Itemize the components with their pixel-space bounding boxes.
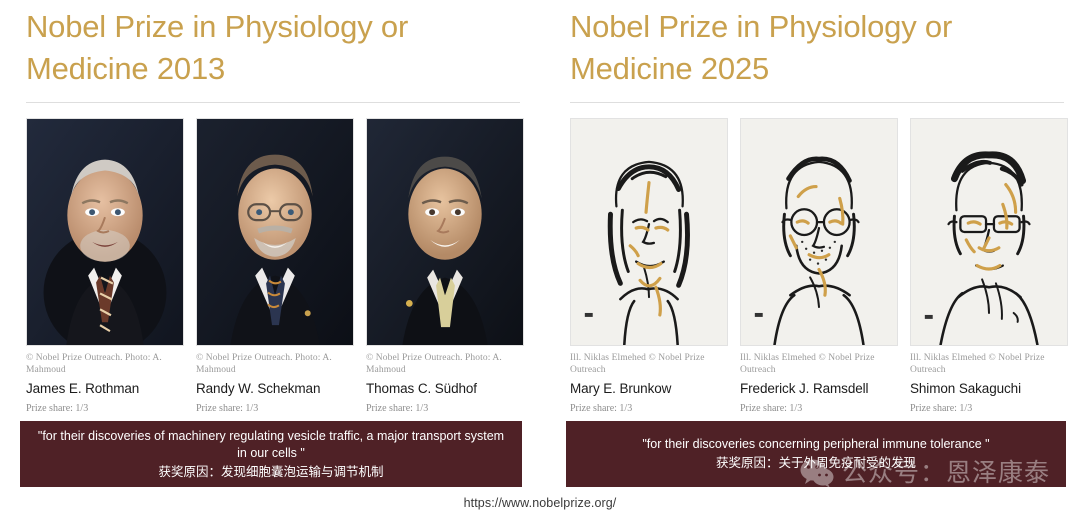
motivation-text-zh: 获奖原因：关于外周免疫耐受的发现 (716, 454, 916, 472)
laureate-card[interactable]: © Nobel Prize Outreach. Photo: A. Mahmou… (196, 118, 354, 415)
laureate-prize-share: Prize share: 1/3 (196, 403, 354, 415)
laureate-credit: Ill. Niklas Elmehed © Nobel Prize Outrea… (570, 353, 728, 376)
title-divider (570, 102, 1064, 103)
laureate-card[interactable]: Ill. Niklas Elmehed © Nobel Prize Outrea… (910, 118, 1068, 415)
slide-canvas: Nobel Prize in Physiology or Medicine 20… (0, 0, 1080, 524)
laureate-credit: © Nobel Prize Outreach. Photo: A. Mahmou… (366, 353, 524, 376)
laureate-credit: Ill. Niklas Elmehed © Nobel Prize Outrea… (740, 353, 898, 376)
laureate-list-2013: © Nobel Prize Outreach. Photo: A. Mahmou… (26, 118, 526, 415)
motivation-text-en: "for their discoveries of machinery regu… (32, 428, 510, 462)
page-title-2013: Nobel Prize in Physiology or Medicine 20… (26, 6, 496, 90)
laureate-portrait-photo (26, 118, 184, 346)
motivation-box-2025: "for their discoveries concerning periph… (566, 421, 1066, 487)
laureate-name: Thomas C. Südhof (366, 380, 524, 397)
nobel-panel-2013: Nobel Prize in Physiology or Medicine 20… (0, 0, 540, 524)
laureate-portrait-illustration (740, 118, 898, 346)
laureate-portrait-illustration (910, 118, 1068, 346)
source-url[interactable]: https://www.nobelprize.org/ (0, 496, 1080, 510)
laureate-name: Shimon Sakaguchi (910, 380, 1068, 397)
laureate-portrait-photo (366, 118, 524, 346)
laureate-credit: Ill. Niklas Elmehed © Nobel Prize Outrea… (910, 353, 1068, 376)
page-title-2025: Nobel Prize in Physiology or Medicine 20… (570, 6, 1050, 90)
laureate-prize-share: Prize share: 1/3 (26, 403, 184, 415)
laureate-list-2025: Ill. Niklas Elmehed © Nobel Prize Outrea… (570, 118, 1070, 415)
laureate-credit: © Nobel Prize Outreach. Photo: A. Mahmou… (26, 353, 184, 376)
laureate-name: Randy W. Schekman (196, 380, 354, 397)
laureate-card[interactable]: © Nobel Prize Outreach. Photo: A. Mahmou… (366, 118, 524, 415)
nobel-panel-2025: Nobel Prize in Physiology or Medicine 20… (540, 0, 1080, 524)
motivation-box-2013: "for their discoveries of machinery regu… (20, 421, 522, 487)
title-divider (26, 102, 520, 103)
laureate-prize-share: Prize share: 1/3 (910, 403, 1068, 415)
laureate-prize-share: Prize share: 1/3 (366, 403, 524, 415)
laureate-card[interactable]: Ill. Niklas Elmehed © Nobel Prize Outrea… (740, 118, 898, 415)
laureate-card[interactable]: Ill. Niklas Elmehed © Nobel Prize Outrea… (570, 118, 728, 415)
laureate-prize-share: Prize share: 1/3 (570, 403, 728, 415)
laureate-credit: © Nobel Prize Outreach. Photo: A. Mahmou… (196, 353, 354, 376)
laureate-name: Frederick J. Ramsdell (740, 380, 898, 397)
laureate-card[interactable]: © Nobel Prize Outreach. Photo: A. Mahmou… (26, 118, 184, 415)
laureate-name: James E. Rothman (26, 380, 184, 397)
motivation-text-en: "for their discoveries concerning periph… (642, 436, 989, 453)
laureate-portrait-photo (196, 118, 354, 346)
laureate-portrait-illustration (570, 118, 728, 346)
laureate-prize-share: Prize share: 1/3 (740, 403, 898, 415)
laureate-name: Mary E. Brunkow (570, 380, 728, 397)
motivation-text-zh: 获奖原因：发现细胞囊泡运输与调节机制 (158, 463, 383, 481)
